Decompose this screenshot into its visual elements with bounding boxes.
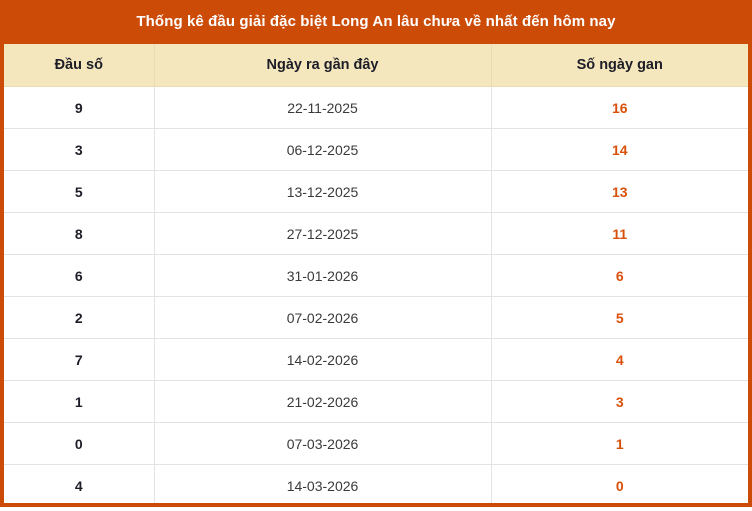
column-header-so-ngay-gan: Số ngày gan xyxy=(491,44,748,87)
cell-so-ngay-gan: 1 xyxy=(491,423,748,465)
cell-ngay-ra: 06-12-2025 xyxy=(154,129,491,171)
cell-ngay-ra: 07-03-2026 xyxy=(154,423,491,465)
cell-dau-so: 2 xyxy=(4,297,154,339)
cell-ngay-ra: 27-12-2025 xyxy=(154,213,491,255)
cell-dau-so: 7 xyxy=(4,339,154,381)
cell-so-ngay-gan: 11 xyxy=(491,213,748,255)
cell-so-ngay-gan: 4 xyxy=(491,339,748,381)
table-header: Đầu số Ngày ra gần đây Số ngày gan xyxy=(4,44,748,87)
cell-dau-so: 1 xyxy=(4,381,154,423)
cell-ngay-ra: 07-02-2026 xyxy=(154,297,491,339)
table-row: 513-12-202513 xyxy=(4,171,748,213)
cell-so-ngay-gan: 6 xyxy=(491,255,748,297)
table-row: 714-02-20264 xyxy=(4,339,748,381)
cell-ngay-ra: 14-03-2026 xyxy=(154,465,491,507)
gan-statistics-panel: Thống kê đầu giải đặc biệt Long An lâu c… xyxy=(0,0,752,507)
gan-statistics-table: Đầu số Ngày ra gần đây Số ngày gan 922-1… xyxy=(4,44,748,506)
cell-so-ngay-gan: 3 xyxy=(491,381,748,423)
cell-so-ngay-gan: 13 xyxy=(491,171,748,213)
cell-dau-so: 6 xyxy=(4,255,154,297)
cell-ngay-ra: 31-01-2026 xyxy=(154,255,491,297)
table-row: 007-03-20261 xyxy=(4,423,748,465)
cell-dau-so: 5 xyxy=(4,171,154,213)
table-header-row: Đầu số Ngày ra gần đây Số ngày gan xyxy=(4,44,748,87)
table-row: 306-12-202514 xyxy=(4,129,748,171)
table-row: 121-02-20263 xyxy=(4,381,748,423)
table-row: 631-01-20266 xyxy=(4,255,748,297)
cell-dau-so: 0 xyxy=(4,423,154,465)
column-header-ngay-ra: Ngày ra gần đây xyxy=(154,44,491,87)
cell-dau-so: 9 xyxy=(4,87,154,129)
table-body: 922-11-202516306-12-202514513-12-2025138… xyxy=(4,87,748,507)
page-title: Thống kê đầu giải đặc biệt Long An lâu c… xyxy=(4,0,748,44)
table-row: 207-02-20265 xyxy=(4,297,748,339)
table-row: 414-03-20260 xyxy=(4,465,748,507)
cell-so-ngay-gan: 14 xyxy=(491,129,748,171)
cell-ngay-ra: 14-02-2026 xyxy=(154,339,491,381)
column-header-dau-so: Đầu số xyxy=(4,44,154,87)
cell-dau-so: 4 xyxy=(4,465,154,507)
cell-so-ngay-gan: 16 xyxy=(491,87,748,129)
cell-so-ngay-gan: 0 xyxy=(491,465,748,507)
cell-dau-so: 3 xyxy=(4,129,154,171)
table-row: 922-11-202516 xyxy=(4,87,748,129)
cell-ngay-ra: 13-12-2025 xyxy=(154,171,491,213)
cell-so-ngay-gan: 5 xyxy=(491,297,748,339)
table-row: 827-12-202511 xyxy=(4,213,748,255)
cell-ngay-ra: 21-02-2026 xyxy=(154,381,491,423)
cell-ngay-ra: 22-11-2025 xyxy=(154,87,491,129)
cell-dau-so: 8 xyxy=(4,213,154,255)
